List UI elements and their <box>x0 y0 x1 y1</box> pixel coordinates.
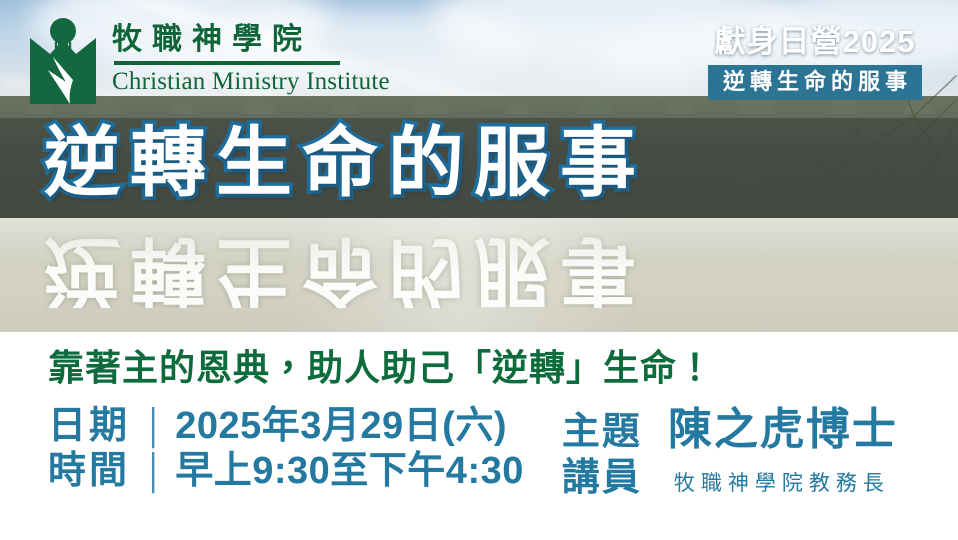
detail-separator: │ <box>142 452 175 492</box>
info-panel: 靠著主的恩典，助人助己「逆轉」生命！ 日期 │ 2025年3月29日(六) 時間… <box>0 332 958 540</box>
organization-logo-block: 牧職神學院 Christian Ministry Institute <box>26 16 390 108</box>
date-label: 日期 <box>48 404 142 449</box>
time-label: 時間 <box>48 449 142 494</box>
logo-text-block: 牧職神學院 Christian Ministry Institute <box>112 16 390 95</box>
org-name-cn: 牧職神學院 <box>112 24 390 56</box>
tagline: 靠著主的恩典，助人助己「逆轉」生命！ <box>48 346 714 389</box>
badge-title: 獻身日營2025 <box>708 24 922 60</box>
main-headline: 逆轉生命的服事 <box>44 126 646 202</box>
hills-path-chalice-logo-icon <box>26 16 100 108</box>
event-poster: 牧職神學院 Christian Ministry Institute 獻身日營2… <box>0 0 958 540</box>
speaker-name: 陳之虎博士 <box>658 404 898 456</box>
logo-divider <box>114 61 340 65</box>
detail-row-time: 時間 │ 早上9:30至下午4:30 <box>48 449 524 494</box>
time-value: 早上9:30至下午4:30 <box>175 449 524 494</box>
speaker-row-topic: 主題 陳之虎博士 <box>562 404 898 456</box>
date-value: 2025年3月29日(六) <box>175 404 507 449</box>
detail-row-date: 日期 │ 2025年3月29日(六) <box>48 404 524 449</box>
headline-reflection: 逆轉生命的服事 <box>44 232 646 308</box>
speaker-column: 主題 陳之虎博士 講員 牧職神學院教務長 <box>562 404 898 501</box>
speaker-label: 講員 <box>562 456 658 501</box>
badge-subtitle-bar: 逆轉生命的服事 <box>708 65 922 100</box>
speaker-row-speaker: 講員 牧職神學院教務長 <box>562 456 898 501</box>
details-block: 日期 │ 2025年3月29日(六) 時間 │ 早上9:30至下午4:30 主題… <box>48 404 898 501</box>
date-time-column: 日期 │ 2025年3月29日(六) 時間 │ 早上9:30至下午4:30 <box>48 404 524 494</box>
detail-separator: │ <box>142 407 175 447</box>
org-name-en: Christian Ministry Institute <box>112 68 390 96</box>
speaker-position: 牧職神學院教務長 <box>658 472 890 497</box>
event-badge: 獻身日營2025 逆轉生命的服事 <box>708 24 922 100</box>
topic-label: 主題 <box>562 410 658 455</box>
